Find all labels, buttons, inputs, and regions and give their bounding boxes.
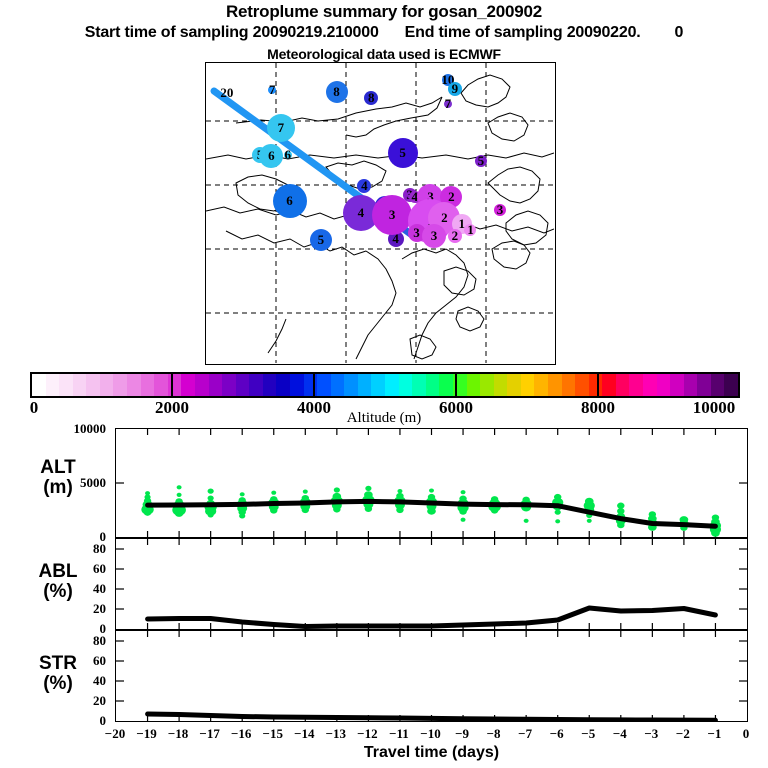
plume-marker-label: 8 [333,84,340,100]
x-axis-tick-label: −2 [676,726,690,742]
x-axis-tick-label: −11 [389,726,409,742]
colorbar-swatch [480,374,494,396]
plume-marker-label: 2 [441,210,448,226]
plume-marker-label: 4 [358,205,365,221]
colorbar-separator [455,372,457,398]
colorbar-swatch [168,374,182,396]
colorbar-swatch [534,374,548,396]
alt-scatter-point [334,487,340,492]
alt-plot-panel [115,428,748,538]
alt-scatter-point [461,490,466,494]
alt-scatter-point [555,510,561,515]
plume-marker-label: 3 [497,202,504,218]
colorbar-swatch [127,374,141,396]
start-time-label: Start time of sampling 20090219.210000 [85,24,379,41]
plume-marker-label: 2 [452,228,459,244]
colorbar-swatch [562,374,576,396]
colorbar-swatch [32,374,46,396]
alt-scatter-point [617,503,624,509]
abl-plot-canvas [116,539,747,629]
colorbar-axis-label: Altitude (m) [0,410,768,427]
alt-scatter-point [365,486,371,491]
alt-scatter-point [365,506,372,512]
colorbar-swatch [399,374,413,396]
y-axis-tick-label: 40 [44,581,106,597]
alt-scatter-point [177,493,182,497]
plume-marker-label: 9 [452,81,459,97]
colorbar-swatch [521,374,535,396]
plume-marker-label: 7 [445,96,452,112]
plume-marker-label: 1 [467,222,474,238]
colorbar-swatch [602,374,616,396]
plume-marker-label: 6 [286,193,293,209]
plume-marker-label: 5 [318,232,325,248]
colorbar-swatch [684,374,698,396]
y-axis-tick-label: 40 [44,673,106,689]
alt-scatter-point [208,489,214,494]
plume-marker-label: 8 [368,90,375,106]
colorbar-swatch [507,374,521,396]
colorbar-swatch [113,374,127,396]
x-axis-tick-label: −3 [644,726,658,742]
str-plot-canvas [116,631,747,721]
colorbar-swatch [100,374,114,396]
alt-scatter-point [175,510,184,517]
alt-scatter-point [239,513,245,518]
x-axis-tick-label: −9 [455,726,469,742]
colorbar-swatch [86,374,100,396]
alt-scatter-point [302,507,309,513]
colorbar-swatch [154,374,168,396]
colorbar-swatch [467,374,481,396]
x-axis-tick-label: −16 [231,726,251,742]
x-axis-label: Travel time (days) [115,744,748,762]
colorbar-swatch [249,374,263,396]
x-axis-tick-label: −7 [518,726,532,742]
plume-marker-label: 4 [361,178,368,194]
colorbar-swatch [236,374,250,396]
alt-scatter-point [459,509,466,515]
colorbar-swatch [59,374,73,396]
colorbar-swatch [657,374,671,396]
alt-scatter-point [144,510,151,516]
alt-scatter-point [240,492,245,496]
colorbar-swatch [344,374,358,396]
alt-scatter-point [491,507,498,513]
abl-plot-panel [115,538,748,630]
plume-marker-label: 7 [278,120,285,136]
colorbar-swatch [643,374,657,396]
y-axis-tick-label: 60 [44,653,106,669]
colorbar-swatch [46,374,60,396]
plume-marker-label: 5 [478,153,485,169]
colorbar-swatch [371,374,385,396]
colorbar-swatch [697,374,711,396]
altitude-colorbar [30,372,740,398]
alt-scatter-point [303,490,308,494]
plume-marker-label: 6 [268,148,275,164]
alt-scatter-point [461,518,466,522]
plume-marker-label: 3 [431,228,438,244]
alt-scatter-point [177,485,182,489]
colorbar-swatch [629,374,643,396]
colorbar-swatch [304,374,318,396]
x-axis-tick-label: −15 [263,726,283,742]
y-axis-tick-label: 80 [44,541,106,557]
colorbar-swatch [358,374,372,396]
retroplume-map: 207756688109755465553434433221213321 [205,62,556,365]
x-axis-tick-label: −4 [613,726,627,742]
plume-marker-label: 20 [220,85,233,101]
colorbar-swatch [589,374,603,396]
alt-plot-canvas [116,429,747,537]
colorbar-swatch [412,374,426,396]
colorbar-swatch [141,374,155,396]
colorbar-swatch [548,374,562,396]
alt-scatter-point [711,530,720,537]
alt-scatter-point [270,507,277,513]
y-axis-tick-label: 20 [44,601,106,617]
x-axis-tick-label: −12 [357,726,377,742]
colorbar-swatch [317,374,331,396]
y-axis-tick-label: 60 [44,561,106,577]
colorbar-swatch [670,374,684,396]
sampling-time-line: Start time of sampling 20090219.210000En… [0,24,768,42]
colorbar-swatch [222,374,236,396]
x-axis-tick-label: −18 [168,726,188,742]
alt-scatter-point [427,507,436,514]
alt-scatter-point [397,489,402,493]
end-time-label: End time of sampling 20090220. [405,24,641,41]
alt-scatter-point [333,506,340,512]
x-axis-tick-label: −1 [707,726,721,742]
page-title: Retroplume summary for gosan_200902 [0,2,768,22]
x-axis-tick-label: −10 [420,726,440,742]
colorbar-separator [313,372,315,398]
x-axis-tick-label: −17 [199,726,219,742]
colorbar-swatch [385,374,399,396]
colorbar-swatch [426,374,440,396]
x-axis-tick-label: −14 [294,726,314,742]
alt-scatter-point [587,519,592,523]
colorbar-swatch [494,374,508,396]
plume-marker-label: 3 [389,207,396,223]
meteo-source-label: Meteorological data used is ECMWF [0,46,768,62]
x-axis-tick-label: −20 [105,726,125,742]
colorbar-swatch [209,374,223,396]
colorbar-swatch [575,374,589,396]
y-axis-tick-label: 5000 [44,475,106,491]
x-axis-tick-label: −5 [581,726,595,742]
colorbar-swatch [331,374,345,396]
str-line [148,714,716,720]
y-axis-tick-label: 80 [44,633,106,649]
colorbar-swatch [276,374,290,396]
x-axis-tick-label: 0 [743,726,750,742]
alt-scatter-point [555,519,560,523]
colorbar-swatch [181,374,195,396]
colorbar-swatch [195,374,209,396]
y-axis-tick-label: 20 [44,693,106,709]
alt-scatter-point [271,491,276,495]
colorbar-separator [597,372,599,398]
end-time-value: 0 [675,24,684,41]
retroplume-summary-figure: Retroplume summary for gosan_200902 Star… [0,0,768,768]
colorbar-swatch [439,374,453,396]
alt-scatter-point [429,488,434,492]
alt-scatter-point [208,512,214,517]
colorbar-separator [171,372,173,398]
colorbar-swatch [724,374,738,396]
y-axis-tick-label: 0 [44,713,106,729]
colorbar-swatch [711,374,725,396]
colorbar-swatch [263,374,277,396]
colorbar-swatch [616,374,630,396]
y-axis-tick-label: 10000 [44,421,106,437]
abl-line [148,608,716,627]
plume-marker-label: 6 [285,147,292,163]
str-plot-panel [115,630,748,722]
alt-scatter-point [617,522,624,528]
x-axis-tick-label: −8 [487,726,501,742]
x-axis-tick-label: −6 [550,726,564,742]
colorbar-swatch [290,374,304,396]
alt-scatter-point [396,507,403,513]
alt-scatter-point [524,519,529,523]
plume-marker-label: 3 [413,225,420,241]
x-axis-tick-label: −19 [136,726,156,742]
plume-marker-label: 7 [269,82,276,98]
plume-marker-label: 5 [399,145,406,161]
colorbar-swatch [73,374,87,396]
x-axis-tick-label: −13 [326,726,346,742]
